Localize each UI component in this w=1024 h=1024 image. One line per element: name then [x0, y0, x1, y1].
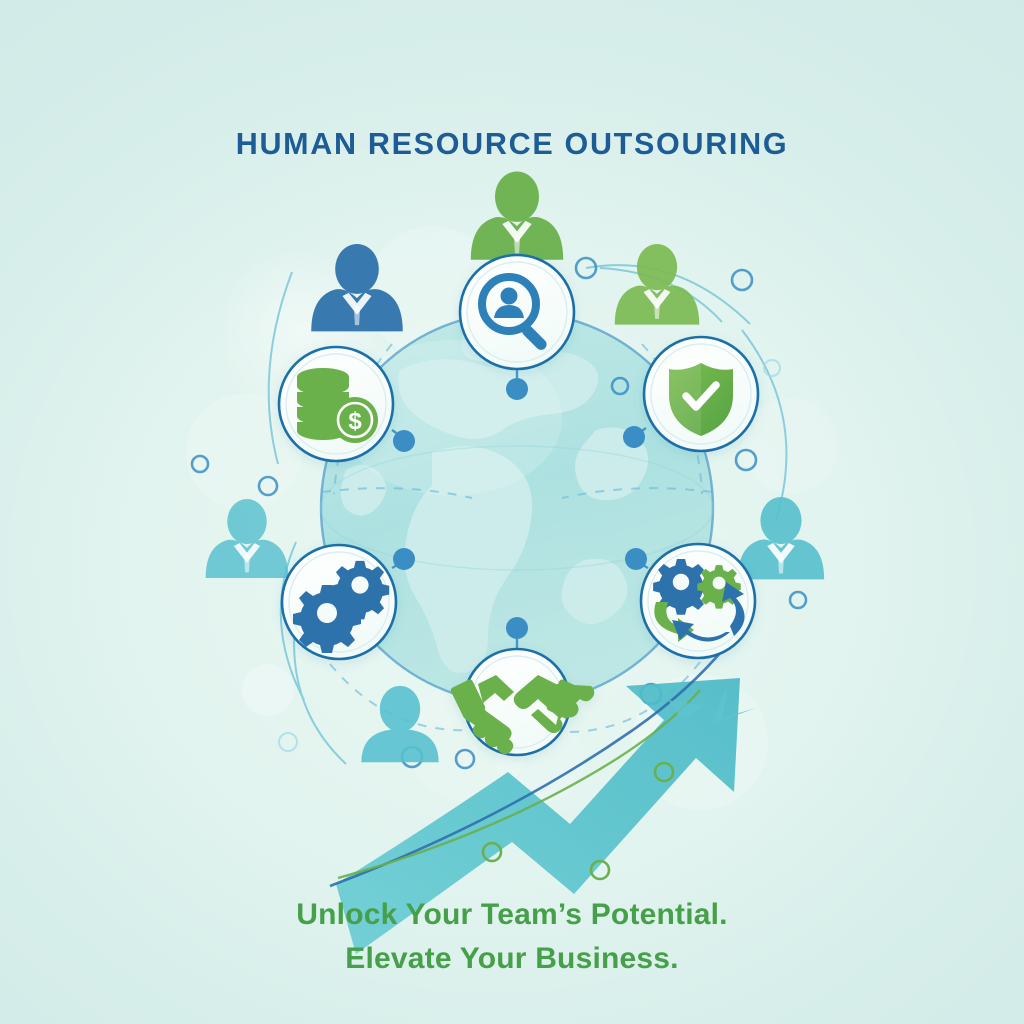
- gear-small-glyph: [331, 561, 389, 619]
- gears-icon[interactable]: [282, 545, 396, 659]
- dollar-coin-glyph: $: [332, 397, 378, 443]
- page-title: HUMAN RESOURCE OUTSOURING: [0, 127, 1024, 162]
- svg-text:$: $: [348, 408, 362, 435]
- process-automation-icon[interactable]: [641, 544, 755, 658]
- tagline-line-1: Unlock Your Team’s Potential.: [0, 898, 1024, 932]
- handshake-icon[interactable]: [450, 649, 595, 755]
- infographic-poster: $: [0, 0, 1024, 1024]
- tagline-line-2: Elevate Your Business.: [0, 942, 1024, 976]
- compliance-shield-icon[interactable]: [644, 337, 758, 451]
- recruitment-search-icon[interactable]: [460, 255, 574, 369]
- payroll-coins-icon[interactable]: $: [279, 347, 393, 461]
